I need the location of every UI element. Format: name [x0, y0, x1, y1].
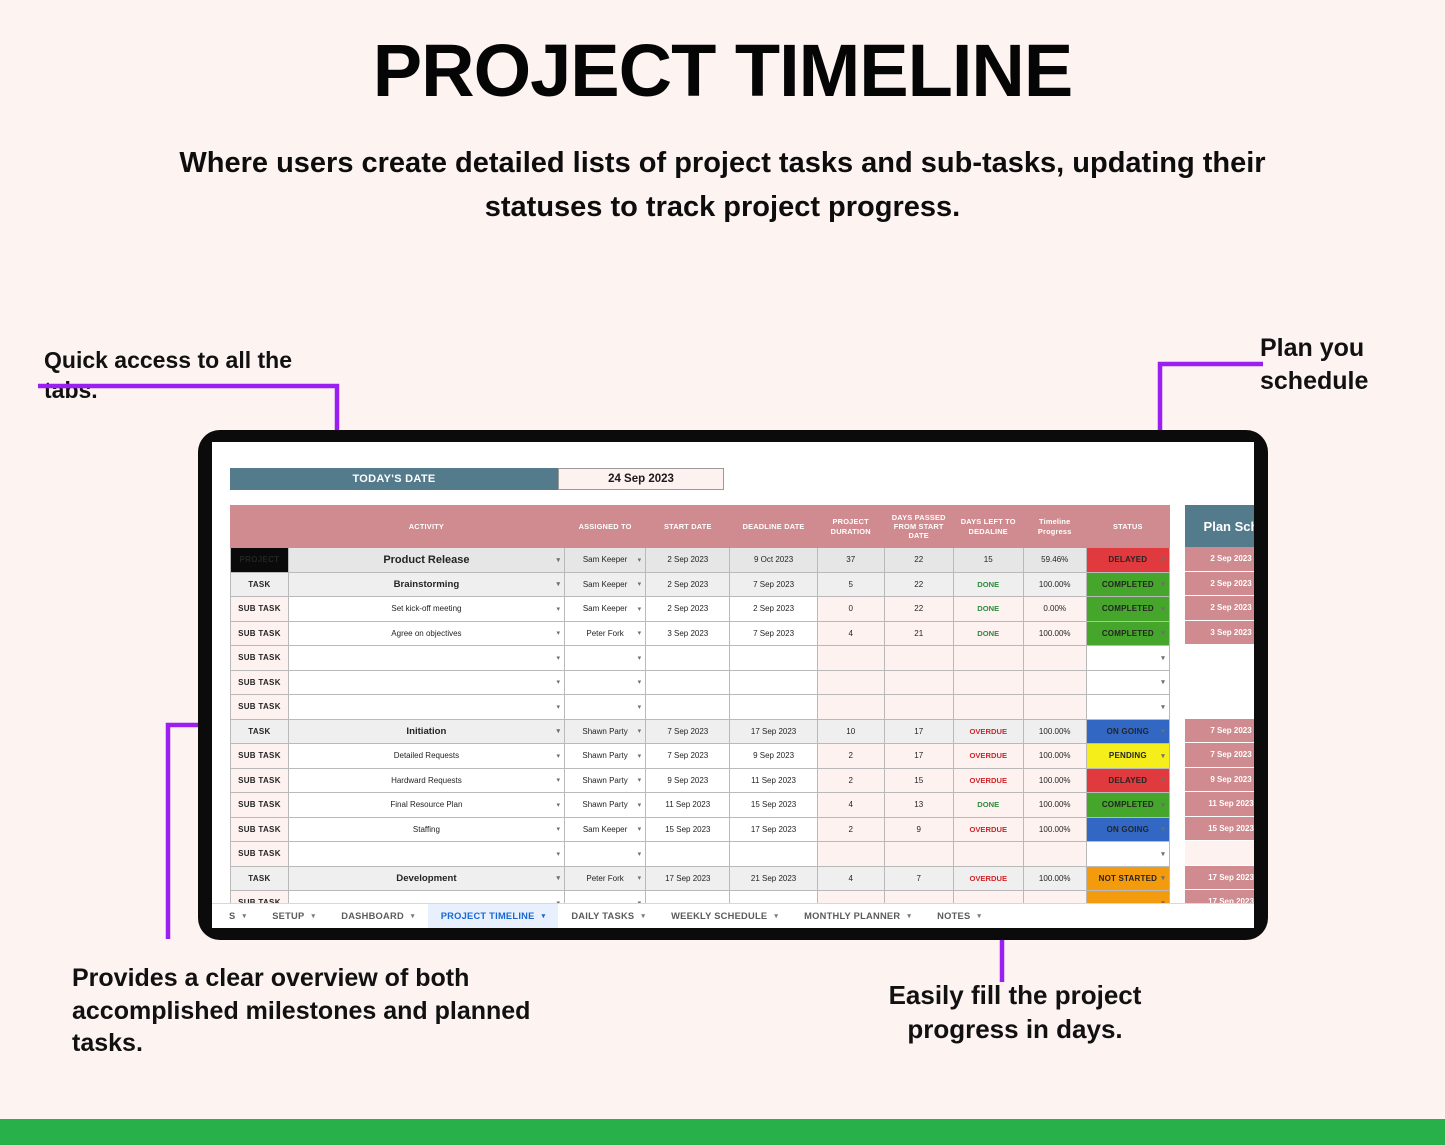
tablet-screen: TODAY'S DATE 24 Sep 2023 ACTIVITY ASSIGN…: [212, 442, 1254, 928]
cell-timeline-progress[interactable]: 100.00%: [1023, 793, 1086, 818]
sheet-tab-s[interactable]: S▾: [216, 904, 259, 929]
cell-deadline-date[interactable]: 2 Sep 2023: [730, 597, 817, 622]
cell-deadline-date[interactable]: [730, 646, 817, 671]
cell-days-left[interactable]: [953, 670, 1023, 695]
chevron-down-icon[interactable]: ▾: [1161, 727, 1165, 735]
table-row[interactable]: TASKBrainstorming▾Sam Keeper▾2 Sep 20237…: [231, 572, 1170, 597]
cell-days-passed[interactable]: 17: [884, 744, 953, 769]
cell-status[interactable]: COMPLETED▾: [1086, 572, 1169, 597]
cell-deadline-date[interactable]: 7 Sep 2023: [730, 572, 817, 597]
col-header-days-passed: DAYS PASSED FROM START DATE: [884, 506, 953, 548]
chevron-down-icon[interactable]: ▾: [556, 874, 560, 882]
cell-deadline-date[interactable]: 17 Sep 2023: [730, 817, 817, 842]
cell-project-duration[interactable]: 4: [817, 621, 884, 646]
table-body: PROJECTProduct Release▾Sam Keeper▾2 Sep …: [231, 548, 1170, 916]
table-row[interactable]: SUB TASKAgree on objectives▾Peter Fork▾3…: [231, 621, 1170, 646]
chevron-down-icon[interactable]: ▾: [638, 556, 642, 564]
sheet-tab-label: DASHBOARD: [341, 911, 404, 921]
cell-assigned-to[interactable]: Sam Keeper▾: [564, 597, 645, 622]
col-header-start: START DATE: [646, 506, 730, 548]
row-type-tag[interactable]: TASK: [231, 572, 289, 597]
plan-schedule-cell[interactable]: 11 Sep 2023: [1185, 792, 1254, 817]
cell-start-date[interactable]: 2 Sep 2023: [646, 572, 730, 597]
table-row[interactable]: SUB TASK▾▾▾: [231, 670, 1170, 695]
plan-schedule-cell[interactable]: [1185, 645, 1254, 670]
plan-schedule-cell[interactable]: 7 Sep 2023: [1185, 743, 1254, 768]
cell-deadline-date[interactable]: [730, 695, 817, 720]
cell-assigned-to[interactable]: Sam Keeper▾: [564, 817, 645, 842]
cell-assigned-to[interactable]: ▾: [564, 670, 645, 695]
row-type-tag[interactable]: SUB TASK: [231, 793, 289, 818]
cell-days-left[interactable]: [953, 646, 1023, 671]
cell-days-left[interactable]: DONE: [953, 597, 1023, 622]
bottom-green-strip: [0, 1119, 1445, 1145]
chevron-down-icon[interactable]: ▾: [638, 801, 642, 809]
cell-project-duration[interactable]: [817, 695, 884, 720]
cell-start-date[interactable]: [646, 695, 730, 720]
cell-project-duration[interactable]: 2: [817, 744, 884, 769]
chevron-down-icon[interactable]: ▾: [556, 752, 560, 760]
table-row[interactable]: SUB TASK▾▾▾: [231, 695, 1170, 720]
cell-status[interactable]: PENDING▾: [1086, 744, 1169, 769]
plan-schedule-cell[interactable]: 2 Sep 2023: [1185, 547, 1254, 572]
cell-assigned-to[interactable]: Peter Fork▾: [564, 621, 645, 646]
chevron-down-icon[interactable]: ▾: [1161, 629, 1165, 637]
col-header-deadline: DEADLINE DATE: [730, 506, 817, 548]
cell-days-passed[interactable]: 22: [884, 597, 953, 622]
row-type-tag[interactable]: TASK: [231, 866, 289, 891]
chevron-down-icon[interactable]: ▾: [638, 776, 642, 784]
cell-project-duration[interactable]: [817, 670, 884, 695]
cell-assigned-to[interactable]: ▾: [564, 695, 645, 720]
cell-project-duration[interactable]: 37: [817, 548, 884, 573]
cell-days-passed[interactable]: 22: [884, 548, 953, 573]
col-header-tag: [231, 506, 289, 548]
cell-start-date[interactable]: 2 Sep 2023: [646, 597, 730, 622]
chevron-down-icon[interactable]: ▾: [1161, 556, 1165, 564]
cell-start-date[interactable]: [646, 670, 730, 695]
table-row[interactable]: SUB TASK▾▾▾: [231, 646, 1170, 671]
chevron-down-icon[interactable]: ▾: [638, 752, 642, 760]
annotation-overview: Provides a clear overview of both accomp…: [72, 962, 572, 1060]
chevron-down-icon[interactable]: ▾: [641, 912, 645, 920]
cell-deadline-date[interactable]: 21 Sep 2023: [730, 866, 817, 891]
cell-timeline-progress[interactable]: 100.00%: [1023, 719, 1086, 744]
plan-schedule-cell[interactable]: 17 Sep 2023: [1185, 866, 1254, 891]
cell-activity[interactable]: Initiation▾: [288, 719, 564, 744]
cell-deadline-date[interactable]: 7 Sep 2023: [730, 621, 817, 646]
cell-timeline-progress[interactable]: [1023, 670, 1086, 695]
cell-days-left[interactable]: 15: [953, 548, 1023, 573]
chevron-down-icon[interactable]: ▾: [542, 912, 546, 920]
cell-project-duration[interactable]: 0: [817, 597, 884, 622]
cell-days-passed[interactable]: 17: [884, 719, 953, 744]
plan-schedule-title: Plan Sch: [1185, 505, 1254, 547]
cell-days-left[interactable]: OVERDUE: [953, 744, 1023, 769]
sheet-tab-setup[interactable]: SETUP▾: [259, 904, 328, 929]
chevron-down-icon[interactable]: ▾: [638, 678, 642, 686]
plan-schedule-cell[interactable]: [1185, 670, 1254, 695]
table-row[interactable]: SUB TASKStaffing▾Sam Keeper▾15 Sep 20231…: [231, 817, 1170, 842]
cell-status[interactable]: ▾: [1086, 646, 1169, 671]
chevron-down-icon[interactable]: ▾: [556, 678, 560, 686]
chevron-down-icon[interactable]: ▾: [556, 629, 560, 637]
chevron-down-icon[interactable]: ▾: [1161, 703, 1165, 711]
cell-start-date[interactable]: 15 Sep 2023: [646, 817, 730, 842]
cell-timeline-progress[interactable]: 100.00%: [1023, 866, 1086, 891]
table-row[interactable]: SUB TASKSet kick-off meeting▾Sam Keeper▾…: [231, 597, 1170, 622]
cell-assigned-to[interactable]: ▾: [564, 646, 645, 671]
annotation-quick-access: Quick access to all the tabs.: [44, 346, 344, 406]
chevron-down-icon[interactable]: ▾: [977, 912, 981, 920]
cell-deadline-date[interactable]: 11 Sep 2023: [730, 768, 817, 793]
sheet-tab-bar[interactable]: S▾SETUP▾DASHBOARD▾PROJECT TIMELINE▾DAILY…: [212, 903, 1254, 928]
col-header-duration: PROJECT DURATION: [817, 506, 884, 548]
row-type-tag[interactable]: SUB TASK: [231, 768, 289, 793]
chevron-down-icon[interactable]: ▾: [556, 825, 560, 833]
sheet-tab-label: NOTES: [937, 911, 970, 921]
todays-date-bar: TODAY'S DATE 24 Sep 2023: [230, 468, 724, 490]
cell-status[interactable]: ON GOING▾: [1086, 817, 1169, 842]
sheet-tab-label: WEEKLY SCHEDULE: [671, 911, 767, 921]
cell-project-duration[interactable]: [817, 646, 884, 671]
chevron-down-icon[interactable]: ▾: [1161, 678, 1165, 686]
cell-deadline-date[interactable]: 17 Sep 2023: [730, 719, 817, 744]
cell-status[interactable]: COMPLETED▾: [1086, 597, 1169, 622]
cell-days-passed[interactable]: [884, 670, 953, 695]
chevron-down-icon[interactable]: ▾: [556, 776, 560, 784]
cell-days-left[interactable]: [953, 842, 1023, 867]
cell-start-date[interactable]: 11 Sep 2023: [646, 793, 730, 818]
sheet-tab-weekly-schedule[interactable]: WEEKLY SCHEDULE▾: [658, 904, 791, 929]
cell-activity[interactable]: ▾: [288, 646, 564, 671]
cell-deadline-date[interactable]: [730, 670, 817, 695]
cell-deadline-date[interactable]: [730, 842, 817, 867]
plan-schedule-cell[interactable]: 2 Sep 2023: [1185, 572, 1254, 597]
cell-status[interactable]: ON GOING▾: [1086, 719, 1169, 744]
annotation-plan-schedule: Plan you schedule: [1260, 332, 1445, 397]
page-title: PROJECT TIMELINE: [0, 34, 1445, 108]
cell-start-date[interactable]: 17 Sep 2023: [646, 866, 730, 891]
cell-start-date[interactable]: 9 Sep 2023: [646, 768, 730, 793]
cell-activity[interactable]: ▾: [288, 842, 564, 867]
cell-assigned-to[interactable]: Sam Keeper▾: [564, 548, 645, 573]
chevron-down-icon[interactable]: ▾: [1161, 752, 1165, 760]
chevron-down-icon[interactable]: ▾: [1161, 776, 1165, 784]
todays-date-label: TODAY'S DATE: [230, 468, 558, 490]
cell-project-duration[interactable]: [817, 842, 884, 867]
chevron-down-icon[interactable]: ▾: [638, 727, 642, 735]
chevron-down-icon[interactable]: ▾: [242, 912, 246, 920]
cell-start-date[interactable]: [646, 646, 730, 671]
cell-project-duration[interactable]: 2: [817, 768, 884, 793]
plan-schedule-cell[interactable]: 2 Sep 2023: [1185, 596, 1254, 621]
cell-activity[interactable]: Set kick-off meeting▾: [288, 597, 564, 622]
plan-schedule-cell[interactable]: [1185, 841, 1254, 866]
plan-schedule-cell[interactable]: 7 Sep 2023: [1185, 719, 1254, 744]
cell-timeline-progress[interactable]: 59.46%: [1023, 548, 1086, 573]
table-row[interactable]: PROJECTProduct Release▾Sam Keeper▾2 Sep …: [231, 548, 1170, 573]
plan-schedule-cells: 2 Sep 20232 Sep 20232 Sep 20233 Sep 2023…: [1185, 547, 1254, 915]
cell-activity[interactable]: Final Resource Plan▾: [288, 793, 564, 818]
cell-start-date[interactable]: 2 Sep 2023: [646, 548, 730, 573]
cell-days-left[interactable]: OVERDUE: [953, 768, 1023, 793]
plan-schedule-panel: Plan Sch 2 Sep 20232 Sep 20232 Sep 20233…: [1185, 505, 1254, 915]
chevron-down-icon[interactable]: ▾: [1161, 654, 1165, 662]
row-type-tag[interactable]: SUB TASK: [231, 597, 289, 622]
cell-status[interactable]: DELAYED▾: [1086, 768, 1169, 793]
sheet-tab-label: MONTHLY PLANNER: [804, 911, 900, 921]
chevron-down-icon[interactable]: ▾: [311, 912, 315, 920]
cell-days-passed[interactable]: 21: [884, 621, 953, 646]
chevron-down-icon[interactable]: ▾: [1161, 850, 1165, 858]
cell-deadline-date[interactable]: 9 Sep 2023: [730, 744, 817, 769]
cell-project-duration[interactable]: 5: [817, 572, 884, 597]
cell-activity[interactable]: Brainstorming▾: [288, 572, 564, 597]
chevron-down-icon[interactable]: ▾: [1161, 605, 1165, 613]
chevron-down-icon[interactable]: ▾: [1161, 801, 1165, 809]
cell-days-passed[interactable]: 22: [884, 572, 953, 597]
cell-status[interactable]: ▾: [1086, 842, 1169, 867]
row-type-tag[interactable]: TASK: [231, 719, 289, 744]
cell-timeline-progress[interactable]: [1023, 646, 1086, 671]
cell-status[interactable]: COMPLETED▾: [1086, 621, 1169, 646]
row-type-tag[interactable]: SUB TASK: [231, 695, 289, 720]
chevron-down-icon[interactable]: ▾: [638, 580, 642, 588]
chevron-down-icon[interactable]: ▾: [556, 605, 560, 613]
plan-schedule-cell[interactable]: 3 Sep 2023: [1185, 621, 1254, 646]
chevron-down-icon[interactable]: ▾: [638, 850, 642, 858]
cell-status[interactable]: NOT STARTED▾: [1086, 866, 1169, 891]
cell-days-passed[interactable]: [884, 646, 953, 671]
chevron-down-icon[interactable]: ▾: [556, 556, 560, 564]
cell-timeline-progress[interactable]: 100.00%: [1023, 572, 1086, 597]
page-subtitle: Where users create detailed lists of pro…: [118, 142, 1328, 229]
table-header-row: ACTIVITY ASSIGNED TO START DATE DEADLINE…: [231, 506, 1170, 548]
cell-activity[interactable]: Product Release▾: [288, 548, 564, 573]
cell-days-passed[interactable]: 7: [884, 866, 953, 891]
chevron-down-icon[interactable]: ▾: [638, 605, 642, 613]
chevron-down-icon[interactable]: ▾: [411, 912, 415, 920]
chevron-down-icon[interactable]: ▾: [638, 874, 642, 882]
cell-days-left[interactable]: DONE: [953, 621, 1023, 646]
cell-days-passed[interactable]: 13: [884, 793, 953, 818]
cell-days-left[interactable]: [953, 695, 1023, 720]
chevron-down-icon[interactable]: ▾: [638, 654, 642, 662]
cell-activity[interactable]: Agree on objectives▾: [288, 621, 564, 646]
table-row[interactable]: SUB TASK▾▾▾: [231, 842, 1170, 867]
chevron-down-icon[interactable]: ▾: [638, 825, 642, 833]
cell-days-left[interactable]: OVERDUE: [953, 817, 1023, 842]
tablet-frame: TODAY'S DATE 24 Sep 2023 ACTIVITY ASSIGN…: [198, 430, 1268, 940]
col-header-activity: ACTIVITY: [288, 506, 564, 548]
cell-timeline-progress[interactable]: 100.00%: [1023, 744, 1086, 769]
cell-days-passed[interactable]: [884, 695, 953, 720]
sheet-tab-daily-tasks[interactable]: DAILY TASKS▾: [558, 904, 658, 929]
cell-project-duration[interactable]: 10: [817, 719, 884, 744]
cell-timeline-progress[interactable]: 100.00%: [1023, 621, 1086, 646]
sheet-tab-notes[interactable]: NOTES▾: [924, 904, 994, 929]
row-type-tag[interactable]: SUB TASK: [231, 817, 289, 842]
cell-activity[interactable]: Development▾: [288, 866, 564, 891]
table-row[interactable]: SUB TASKDetailed Requests▾Shawn Party▾7 …: [231, 744, 1170, 769]
cell-deadline-date[interactable]: 15 Sep 2023: [730, 793, 817, 818]
sheet-tab-monthly-planner[interactable]: MONTHLY PLANNER▾: [791, 904, 924, 929]
timeline-table: ACTIVITY ASSIGNED TO START DATE DEADLINE…: [230, 505, 1170, 916]
cell-assigned-to[interactable]: Sam Keeper▾: [564, 572, 645, 597]
cell-days-passed[interactable]: 9: [884, 817, 953, 842]
cell-days-passed[interactable]: [884, 842, 953, 867]
cell-project-duration[interactable]: 4: [817, 793, 884, 818]
plan-schedule-cell[interactable]: 15 Sep 2023: [1185, 817, 1254, 842]
chevron-down-icon[interactable]: ▾: [638, 703, 642, 711]
chevron-down-icon[interactable]: ▾: [638, 629, 642, 637]
table-row[interactable]: SUB TASKFinal Resource Plan▾Shawn Party▾…: [231, 793, 1170, 818]
col-header-progress: Timeline Progress: [1023, 506, 1086, 548]
chevron-down-icon[interactable]: ▾: [774, 912, 778, 920]
cell-assigned-to[interactable]: Shawn Party▾: [564, 768, 645, 793]
row-type-tag[interactable]: SUB TASK: [231, 744, 289, 769]
cell-start-date[interactable]: [646, 842, 730, 867]
cell-activity[interactable]: Staffing▾: [288, 817, 564, 842]
table-row[interactable]: SUB TASKHardward Requests▾Shawn Party▾9 …: [231, 768, 1170, 793]
row-type-tag[interactable]: SUB TASK: [231, 646, 289, 671]
table-row[interactable]: TASKInitiation▾Shawn Party▾7 Sep 202317 …: [231, 719, 1170, 744]
cell-start-date[interactable]: 7 Sep 2023: [646, 744, 730, 769]
sheet-tab-label: S: [229, 911, 235, 921]
sheet-tab-label: SETUP: [272, 911, 304, 921]
sheet-tab-label: DAILY TASKS: [571, 911, 634, 921]
cell-timeline-progress[interactable]: [1023, 842, 1086, 867]
row-type-tag[interactable]: SUB TASK: [231, 670, 289, 695]
cell-project-duration[interactable]: 2: [817, 817, 884, 842]
spreadsheet: TODAY'S DATE 24 Sep 2023 ACTIVITY ASSIGN…: [212, 442, 1254, 928]
chevron-down-icon[interactable]: ▾: [556, 654, 560, 662]
chevron-down-icon[interactable]: ▾: [556, 580, 560, 588]
table-row[interactable]: TASKDevelopment▾Peter Fork▾17 Sep 202321…: [231, 866, 1170, 891]
cell-activity[interactable]: Hardward Requests▾: [288, 768, 564, 793]
cell-deadline-date[interactable]: 9 Oct 2023: [730, 548, 817, 573]
plan-schedule-cell[interactable]: [1185, 694, 1254, 719]
sheet-tab-project-timeline[interactable]: PROJECT TIMELINE▾: [428, 904, 559, 929]
chevron-down-icon[interactable]: ▾: [556, 727, 560, 735]
cell-status[interactable]: COMPLETED▾: [1086, 793, 1169, 818]
chevron-down-icon[interactable]: ▾: [556, 801, 560, 809]
chevron-down-icon[interactable]: ▾: [1161, 580, 1165, 588]
row-type-tag[interactable]: PROJECT: [231, 548, 289, 573]
chevron-down-icon[interactable]: ▾: [1161, 825, 1165, 833]
plan-schedule-cell[interactable]: 9 Sep 2023: [1185, 768, 1254, 793]
chevron-down-icon[interactable]: ▾: [907, 912, 911, 920]
row-type-tag[interactable]: SUB TASK: [231, 842, 289, 867]
sheet-tab-label: PROJECT TIMELINE: [441, 911, 535, 921]
cell-status[interactable]: ▾: [1086, 695, 1169, 720]
chevron-down-icon[interactable]: ▾: [556, 850, 560, 858]
cell-assigned-to[interactable]: Shawn Party▾: [564, 719, 645, 744]
cell-activity[interactable]: Detailed Requests▾: [288, 744, 564, 769]
cell-start-date[interactable]: 3 Sep 2023: [646, 621, 730, 646]
sheet-tab-dashboard[interactable]: DASHBOARD▾: [328, 904, 427, 929]
cell-status[interactable]: DELAYED▾: [1086, 548, 1169, 573]
cell-project-duration[interactable]: 4: [817, 866, 884, 891]
todays-date-value[interactable]: 24 Sep 2023: [558, 468, 724, 490]
annotation-progress: Easily fill the project progress in days…: [840, 979, 1190, 1047]
cell-timeline-progress[interactable]: 100.00%: [1023, 768, 1086, 793]
cell-days-left[interactable]: OVERDUE: [953, 719, 1023, 744]
cell-days-left[interactable]: OVERDUE: [953, 866, 1023, 891]
chevron-down-icon[interactable]: ▾: [556, 703, 560, 711]
col-header-assigned: ASSIGNED TO: [564, 506, 645, 548]
cell-timeline-progress[interactable]: 100.00%: [1023, 817, 1086, 842]
cell-assigned-to[interactable]: ▾: [564, 842, 645, 867]
cell-days-left[interactable]: DONE: [953, 793, 1023, 818]
cell-days-left[interactable]: DONE: [953, 572, 1023, 597]
cell-timeline-progress[interactable]: [1023, 695, 1086, 720]
cell-days-passed[interactable]: 15: [884, 768, 953, 793]
cell-activity[interactable]: ▾: [288, 670, 564, 695]
cell-timeline-progress[interactable]: 0.00%: [1023, 597, 1086, 622]
cell-start-date[interactable]: 7 Sep 2023: [646, 719, 730, 744]
col-header-status: STATUS: [1086, 506, 1169, 548]
cell-activity[interactable]: ▾: [288, 695, 564, 720]
col-header-days-left: DAYS LEFT TO DEDALINE: [953, 506, 1023, 548]
cell-assigned-to[interactable]: Peter Fork▾: [564, 866, 645, 891]
cell-status[interactable]: ▾: [1086, 670, 1169, 695]
chevron-down-icon[interactable]: ▾: [1161, 874, 1165, 882]
cell-assigned-to[interactable]: Shawn Party▾: [564, 793, 645, 818]
cell-assigned-to[interactable]: Shawn Party▾: [564, 744, 645, 769]
row-type-tag[interactable]: SUB TASK: [231, 621, 289, 646]
